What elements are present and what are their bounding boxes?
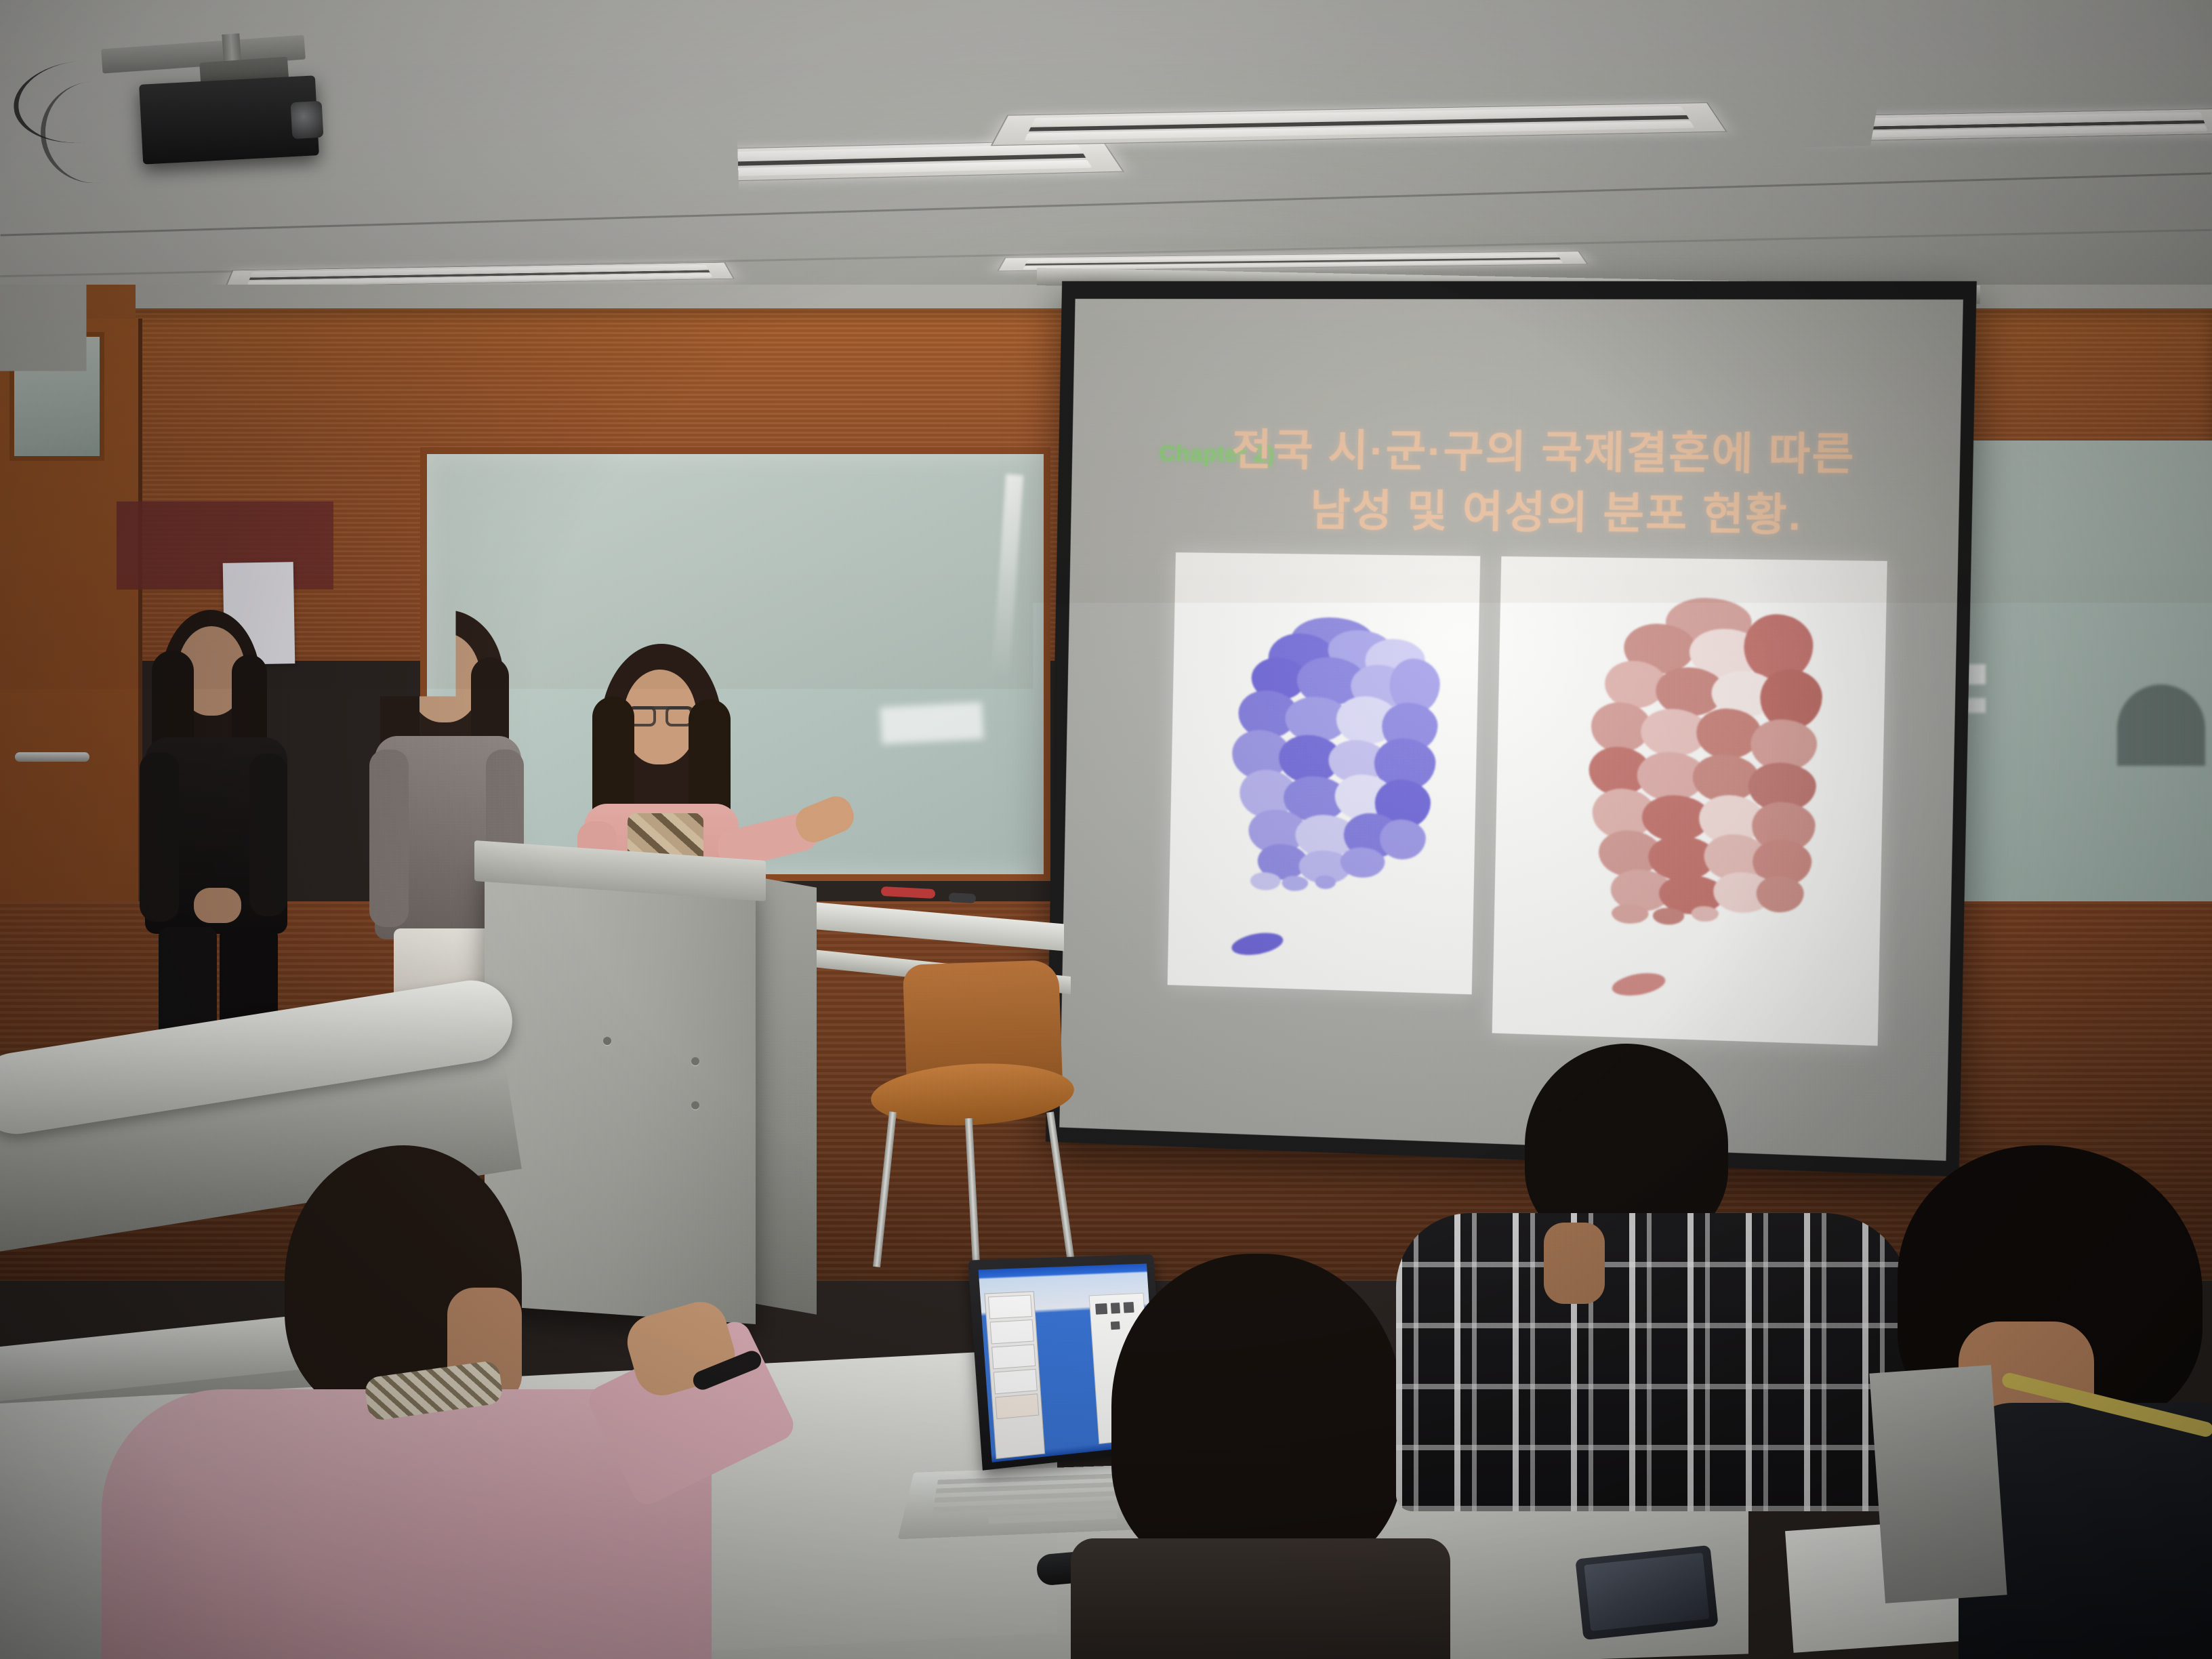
jeju-island-marker	[1610, 969, 1667, 999]
podium-screw	[603, 1037, 611, 1045]
arm-right	[249, 754, 287, 916]
slide-thumbnail-panel[interactable]	[984, 1291, 1045, 1459]
mobile-phone[interactable]	[1575, 1545, 1718, 1640]
phone-screen	[1584, 1553, 1709, 1631]
door-window	[9, 332, 104, 461]
podium-screw	[691, 1101, 699, 1109]
audience-plaid	[1369, 1044, 1938, 1518]
whiteboard-glare	[992, 474, 1024, 678]
figure-female-distribution-map	[1492, 556, 1887, 1046]
glass-silhouette	[2117, 684, 2205, 766]
whiteboard-glare	[880, 702, 984, 744]
audience-right	[1877, 1145, 2212, 1659]
slide-title-line-1: 전국 시·군·구의 국제결혼에 따른	[1231, 426, 1856, 479]
korea-choropleth-red	[1544, 596, 1837, 950]
projection-screen-surface: Chapter 2) 전국 시·군·구의 국제결혼에 따른 남성 및 여성의 분…	[1059, 299, 1963, 1161]
jeju-island-marker	[1230, 929, 1286, 959]
podium-screw	[691, 1057, 699, 1065]
classroom-presentation-photo: Chapter 2) 전국 시·군·구의 국제결혼에 따른 남성 및 여성의 분…	[0, 0, 2212, 1659]
red-marker	[881, 886, 936, 899]
arm-left	[369, 750, 409, 927]
korea-choropleth-blue	[1204, 613, 1438, 912]
arm-left	[140, 752, 179, 922]
slide-thumbnail[interactable]	[990, 1319, 1034, 1344]
slide-thumbnail[interactable]	[994, 1369, 1038, 1395]
neck	[1544, 1223, 1605, 1304]
shoulder-light	[1869, 1365, 2007, 1603]
projector-lens-icon	[291, 101, 324, 139]
projection-screen: Chapter 2) 전국 시·군·구의 국제결혼에 따른 남성 및 여성의 분…	[1046, 281, 1977, 1177]
slide-thumbnail[interactable]	[995, 1393, 1039, 1419]
audience-pink	[224, 1145, 888, 1659]
slide-thumbnail[interactable]	[991, 1344, 1036, 1369]
slide-title: 전국 시·군·구의 국제결혼에 따른 남성 및 여성의 분포 현황.	[1172, 420, 1917, 547]
presentation-slide: Chapter 2) 전국 시·군·구의 국제결혼에 따른 남성 및 여성의 분…	[1059, 299, 1963, 1161]
hair	[1111, 1254, 1403, 1572]
door-handle[interactable]	[15, 752, 89, 762]
dark-marker	[949, 893, 977, 903]
slide-chapter-tag: Chapter 2)	[1159, 441, 1275, 468]
figure-male-distribution-map	[1168, 552, 1481, 994]
glass-partition	[1931, 441, 2212, 915]
slide-title-line-2: 남성 및 여성의 분포 현황.	[1172, 479, 1915, 547]
slide-thumbnail[interactable]	[988, 1295, 1032, 1319]
hands	[194, 888, 241, 923]
plaid-shirt	[1396, 1213, 1911, 1511]
torso	[1071, 1538, 1450, 1659]
